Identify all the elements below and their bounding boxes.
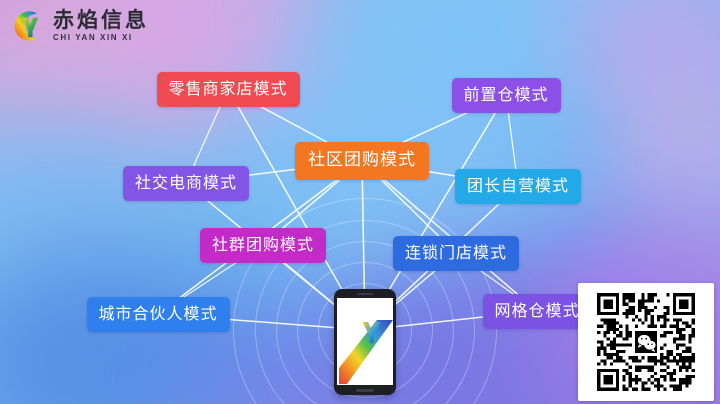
phone-screen xyxy=(337,298,393,385)
node-label: 城市合伙人模式 xyxy=(99,304,218,323)
brand-logo: 赤焰信息 CHI YAN XIN XI xyxy=(10,8,149,44)
node-chain-store[interactable]: 连锁门店模式 xyxy=(393,236,519,271)
node-label: 前置仓模式 xyxy=(464,85,549,104)
node-grid-warehouse[interactable]: 网格仓模式 xyxy=(483,294,592,329)
node-label: 网格仓模式 xyxy=(495,301,580,320)
node-leader-self-operated[interactable]: 团长自营模式 xyxy=(455,169,581,204)
brand-name-en: CHI YAN XIN XI xyxy=(53,34,149,43)
node-front-warehouse[interactable]: 前置仓模式 xyxy=(452,78,561,113)
node-social-ecommerce[interactable]: 社交电商模式 xyxy=(123,166,249,201)
phone-home-button xyxy=(356,389,374,392)
node-label: 团长自营模式 xyxy=(467,176,569,195)
wechat-qr-panel[interactable] xyxy=(578,283,714,401)
node-community-group-buying[interactable]: 社区团购模式 xyxy=(295,142,429,180)
phone-speaker xyxy=(357,293,373,295)
node-label: 社群团购模式 xyxy=(212,235,314,254)
poster-canvas: 社区团购模式零售商家店模式前置仓模式社交电商模式团长自营模式社群团购模式连锁门店… xyxy=(0,0,720,404)
chiyan-logo-icon xyxy=(10,8,46,44)
node-label: 社交电商模式 xyxy=(135,173,237,192)
brand-name-cn: 赤焰信息 xyxy=(53,9,149,31)
node-city-partner[interactable]: 城市合伙人模式 xyxy=(87,297,230,332)
node-community-group[interactable]: 社群团购模式 xyxy=(200,228,326,263)
node-label: 零售商家店模式 xyxy=(169,79,288,98)
node-label: 连锁门店模式 xyxy=(405,243,507,262)
node-retail-merchant-store[interactable]: 零售商家店模式 xyxy=(157,72,300,107)
node-label: 社区团购模式 xyxy=(308,150,416,170)
phone-logo-icon xyxy=(337,298,393,384)
smartphone-icon xyxy=(334,289,396,395)
wechat-qr-code[interactable] xyxy=(594,290,698,394)
